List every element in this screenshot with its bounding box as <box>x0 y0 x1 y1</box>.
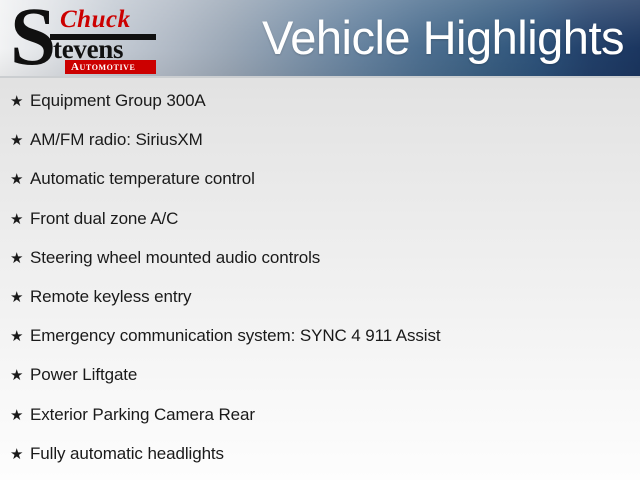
star-icon: ★ <box>10 287 30 309</box>
star-icon: ★ <box>10 326 30 348</box>
feature-label: Remote keyless entry <box>30 286 640 308</box>
list-item: ★ Exterior Parking Camera Rear <box>0 404 640 443</box>
feature-label: Front dual zone A/C <box>30 208 640 230</box>
feature-label: Power Liftgate <box>30 364 640 386</box>
logo-monogram-s: S <box>10 0 56 78</box>
feature-label: Exterior Parking Camera Rear <box>30 404 640 426</box>
list-item: ★ Automatic temperature control <box>0 168 640 207</box>
list-item: ★ Emergency communication system: SYNC 4… <box>0 325 640 364</box>
vehicle-highlights-page: S Chuck tevens Automotive Vehicle Highli… <box>0 0 640 480</box>
logo-last-name: tevens <box>53 36 123 63</box>
list-item: ★ AM/FM radio: SiriusXM <box>0 129 640 168</box>
dealer-logo[interactable]: S Chuck tevens Automotive <box>8 2 168 76</box>
page-header: S Chuck tevens Automotive Vehicle Highli… <box>0 0 640 78</box>
feature-label: Automatic temperature control <box>30 168 640 190</box>
list-item: ★ Fully automatic headlights <box>0 443 640 480</box>
star-icon: ★ <box>10 444 30 466</box>
star-icon: ★ <box>10 130 30 152</box>
list-item: ★ Equipment Group 300A <box>0 90 640 129</box>
feature-label: Equipment Group 300A <box>30 90 640 112</box>
logo-first-name: Chuck <box>60 7 131 32</box>
star-icon: ★ <box>10 209 30 231</box>
star-icon: ★ <box>10 248 30 270</box>
list-item: ★ Front dual zone A/C <box>0 208 640 247</box>
list-item: ★ Power Liftgate <box>0 364 640 403</box>
logo-tagline-text: Automotive <box>71 61 135 73</box>
feature-label: AM/FM radio: SiriusXM <box>30 129 640 151</box>
feature-label: Fully automatic headlights <box>30 443 640 465</box>
feature-label: Steering wheel mounted audio controls <box>30 247 640 269</box>
list-item: ★ Remote keyless entry <box>0 286 640 325</box>
star-icon: ★ <box>10 169 30 191</box>
list-item: ★ Steering wheel mounted audio controls <box>0 247 640 286</box>
star-icon: ★ <box>10 405 30 427</box>
star-icon: ★ <box>10 365 30 387</box>
star-icon: ★ <box>10 91 30 113</box>
vehicle-highlights-list: ★ Equipment Group 300A ★ AM/FM radio: Si… <box>0 78 640 480</box>
feature-label: Emergency communication system: SYNC 4 9… <box>30 325 640 347</box>
page-title: Vehicle Highlights <box>262 6 624 70</box>
